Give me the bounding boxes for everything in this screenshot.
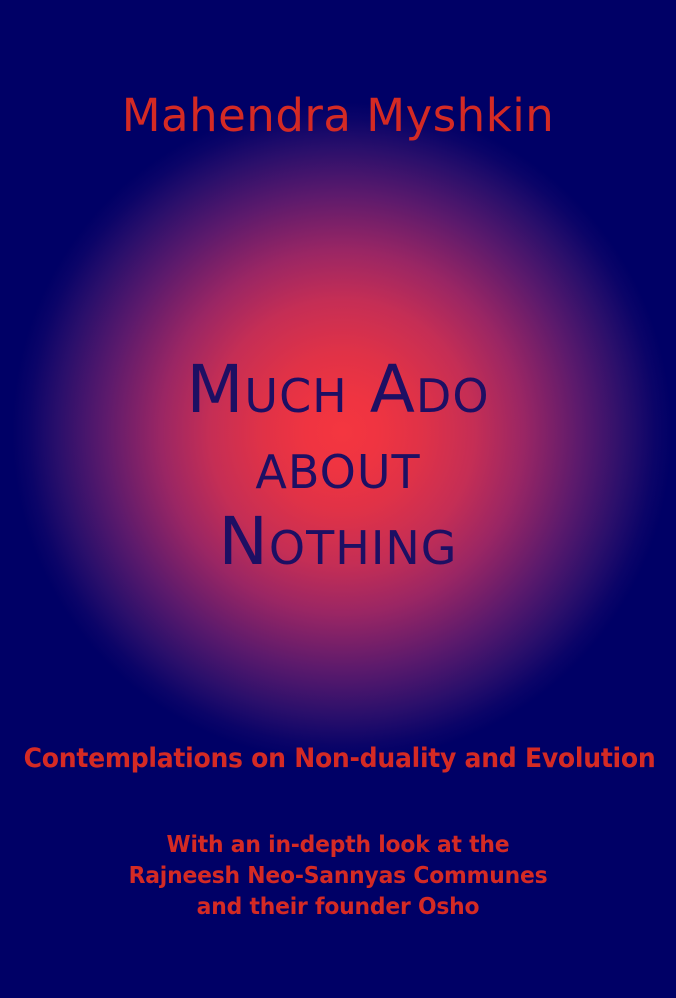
title-line-3: Nothing xyxy=(0,504,676,580)
title-line-1: Much Ado xyxy=(0,352,676,428)
blurb-line-1: With an in-depth look at the xyxy=(17,830,659,861)
book-cover: Mahendra Myshkin Much Ado about Nothing … xyxy=(0,0,676,998)
cover-content: Mahendra Myshkin Much Ado about Nothing … xyxy=(0,0,676,998)
book-title: Much Ado about Nothing xyxy=(0,352,676,580)
blurb-line-3: and their founder Osho xyxy=(17,892,659,923)
cover-blurb: With an in-depth look at the Rajneesh Ne… xyxy=(17,830,659,923)
author-name: Mahendra Myshkin xyxy=(0,93,676,138)
book-subtitle: Contemplations on Non-duality and Evolut… xyxy=(24,742,653,776)
blurb-line-2: Rajneesh Neo-Sannyas Communes xyxy=(17,861,659,892)
title-line-2: about xyxy=(0,428,676,504)
